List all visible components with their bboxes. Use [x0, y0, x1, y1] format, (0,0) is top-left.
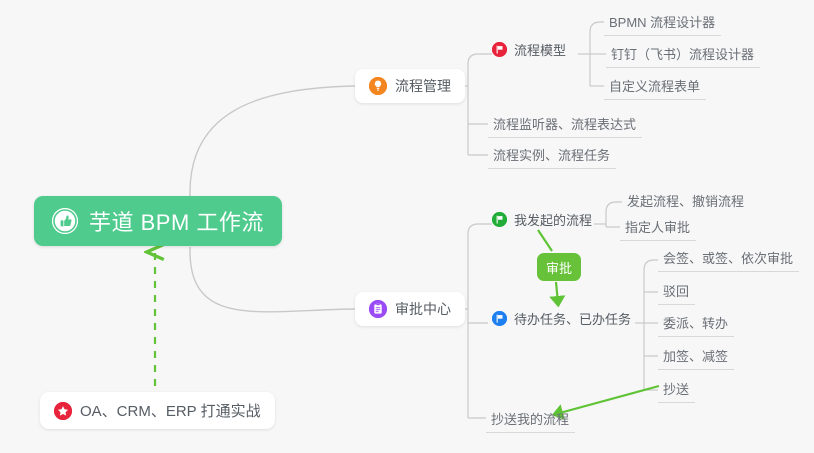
leaf-label: 委派、转办 — [663, 313, 728, 332]
leaf-bpmn-designer[interactable]: BPMN 流程设计器 — [604, 8, 721, 36]
node-my-initiated[interactable]: 我发起的流程 — [492, 210, 592, 229]
root-node[interactable]: 芋道 BPM 工作流 — [34, 196, 282, 246]
leaf-add-remove-sign[interactable]: 加签、减签 — [658, 342, 734, 370]
leaf-label: 抄送我的流程 — [491, 409, 569, 428]
leaf-listener-expression[interactable]: 流程监听器、流程表达式 — [488, 110, 642, 138]
node-label: 流程模型 — [514, 40, 566, 59]
root-label: 芋道 BPM 工作流 — [89, 205, 264, 237]
leaf-custom-process-form[interactable]: 自定义流程表单 — [604, 72, 706, 100]
chip-label: 审批 — [546, 258, 572, 277]
leaf-cc-to-me[interactable]: 抄送我的流程 — [486, 405, 575, 433]
footnote-node[interactable]: OA、CRM、ERP 打通实战 — [40, 392, 275, 429]
leaf-label: 会签、或签、依次审批 — [663, 248, 793, 267]
leaf-label: 加签、减签 — [663, 346, 728, 365]
leaf-designated-approver[interactable]: 指定人审批 — [620, 213, 696, 241]
node-label: 我发起的流程 — [514, 210, 592, 229]
flag-green-icon — [492, 212, 507, 227]
leaf-label: 流程实例、流程任务 — [493, 145, 610, 164]
node-todo-done-tasks[interactable]: 待办任务、已办任务 — [492, 309, 631, 328]
mindmap-canvas: 芋道 BPM 工作流 流程管理 流程模型 BPMN 流程设计器 钉钉（飞书）流程 — [0, 0, 814, 453]
leaf-start-cancel-process[interactable]: 发起流程、撤销流程 — [622, 186, 750, 214]
branch-process-management[interactable]: 流程管理 — [355, 69, 465, 103]
flag-red-icon — [492, 42, 507, 57]
lightbulb-icon — [369, 77, 387, 95]
flag-blue-icon — [492, 311, 507, 326]
node-label: 待办任务、已办任务 — [514, 309, 631, 328]
branch-label: 审批中心 — [395, 299, 451, 319]
leaf-label: 钉钉（飞书）流程设计器 — [611, 44, 754, 63]
leaf-label: 驳回 — [663, 281, 689, 300]
clipboard-icon — [369, 300, 387, 318]
branch-approval-center[interactable]: 审批中心 — [355, 292, 465, 326]
leaf-label: 抄送 — [663, 379, 689, 398]
branch-label: 流程管理 — [395, 76, 451, 96]
star-icon — [54, 402, 72, 420]
node-process-model[interactable]: 流程模型 — [492, 40, 566, 59]
footnote-label: OA、CRM、ERP 打通实战 — [80, 400, 261, 421]
leaf-label: 自定义流程表单 — [609, 76, 700, 95]
thumbs-up-icon — [52, 208, 78, 234]
leaf-label: BPMN 流程设计器 — [609, 12, 715, 31]
leaf-label: 指定人审批 — [625, 217, 690, 236]
leaf-delegate-transfer[interactable]: 委派、转办 — [658, 309, 734, 337]
leaf-dingtalk-feishu-designer[interactable]: 钉钉（飞书）流程设计器 — [606, 40, 760, 68]
leaf-instance-task[interactable]: 流程实例、流程任务 — [488, 141, 616, 169]
leaf-label: 流程监听器、流程表达式 — [493, 114, 636, 133]
leaf-label: 发起流程、撤销流程 — [627, 191, 744, 210]
leaf-cc[interactable]: 抄送 — [658, 375, 695, 403]
approval-chip[interactable]: 审批 — [537, 253, 581, 281]
leaf-countersign[interactable]: 会签、或签、依次审批 — [658, 244, 799, 272]
leaf-reject[interactable]: 驳回 — [658, 277, 695, 305]
